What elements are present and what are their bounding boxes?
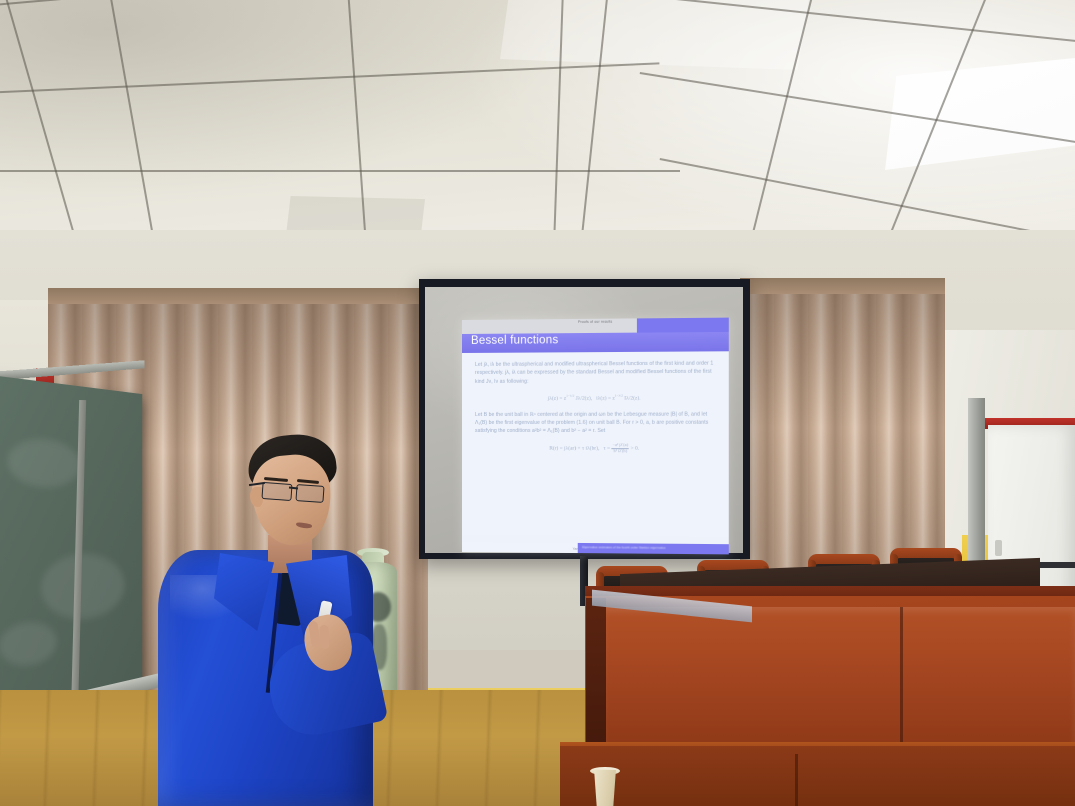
formula1-left: jλ(z) = z	[548, 395, 566, 401]
ceiling-grid-cross	[0, 170, 680, 172]
formula1-right: iλ(z) = z	[596, 395, 615, 401]
front-table-seam	[795, 754, 798, 806]
curtain-rod-right	[740, 278, 945, 294]
slide-formula-1: jλ(z) = z1−λ/2 Jλ/2(z), iλ(z) = z1−λ/2 I…	[475, 393, 715, 402]
formula2-lhs: R(r) = jλ(ar) + τ iλ(br),	[549, 446, 599, 452]
eyeglasses-lens-right	[295, 484, 324, 503]
cabinet-handle[interactable]	[995, 540, 1002, 556]
ceiling-tile-panel	[500, 0, 810, 70]
formula2-fraction: −a² jλ'(a) b² iλ'(b)	[612, 443, 630, 453]
podium-side-panel	[586, 598, 606, 758]
formula2-tau: τ =	[603, 446, 610, 452]
slide-title: Bessel functions	[471, 334, 558, 347]
presenter	[150, 425, 385, 806]
formula1-mid: Jλ/2(z),	[576, 395, 593, 401]
projected-slide: Proofs of our results Bessel functions L…	[462, 318, 729, 555]
formula1-left-exponent: 1−λ/2	[566, 393, 574, 397]
wooden-front-table	[560, 746, 1075, 806]
formula2-rhs: > 0.	[630, 446, 639, 452]
podium-front-panel	[603, 607, 1075, 757]
slide-formula-2: R(r) = jλ(ar) + τ iλ(br), τ = −a² jλ'(a)…	[475, 443, 715, 454]
eyeglasses-lens-left	[261, 482, 292, 501]
slide-breadcrumb: Proofs of our results	[578, 321, 612, 325]
slide-footer-title: Eigenvalue estimates of the fourth order…	[582, 545, 666, 550]
slide-paragraph-1: Let jλ, iλ be the ultraspherical and mod…	[475, 360, 715, 386]
green-chalkboard	[0, 375, 142, 705]
chalk-smudge	[0, 621, 57, 668]
chalk-smudge	[7, 436, 80, 488]
formula1-right-tail: Iλ/2(z).	[624, 395, 640, 401]
chalk-smudge	[41, 553, 125, 621]
slide-nav-highlight	[637, 318, 729, 333]
podium-panel-seam	[900, 607, 903, 757]
formula2-denominator: b² iλ'(b)	[612, 449, 630, 454]
curtain-rod-left	[48, 288, 428, 304]
formula1-right-exponent: 1−λ/2	[615, 393, 623, 397]
lecture-hall-photo: Proofs of our results Bessel functions L…	[0, 0, 1075, 806]
slide-paragraph-2: Let B be the unit ball in ℝⁿ centered at…	[475, 410, 715, 435]
slide-footer-bar: Eigenvalue estimates of the fourth order…	[578, 543, 729, 554]
presenter-finger	[319, 625, 330, 650]
slide-body: Let jλ, iλ be the ultraspherical and mod…	[462, 351, 729, 537]
